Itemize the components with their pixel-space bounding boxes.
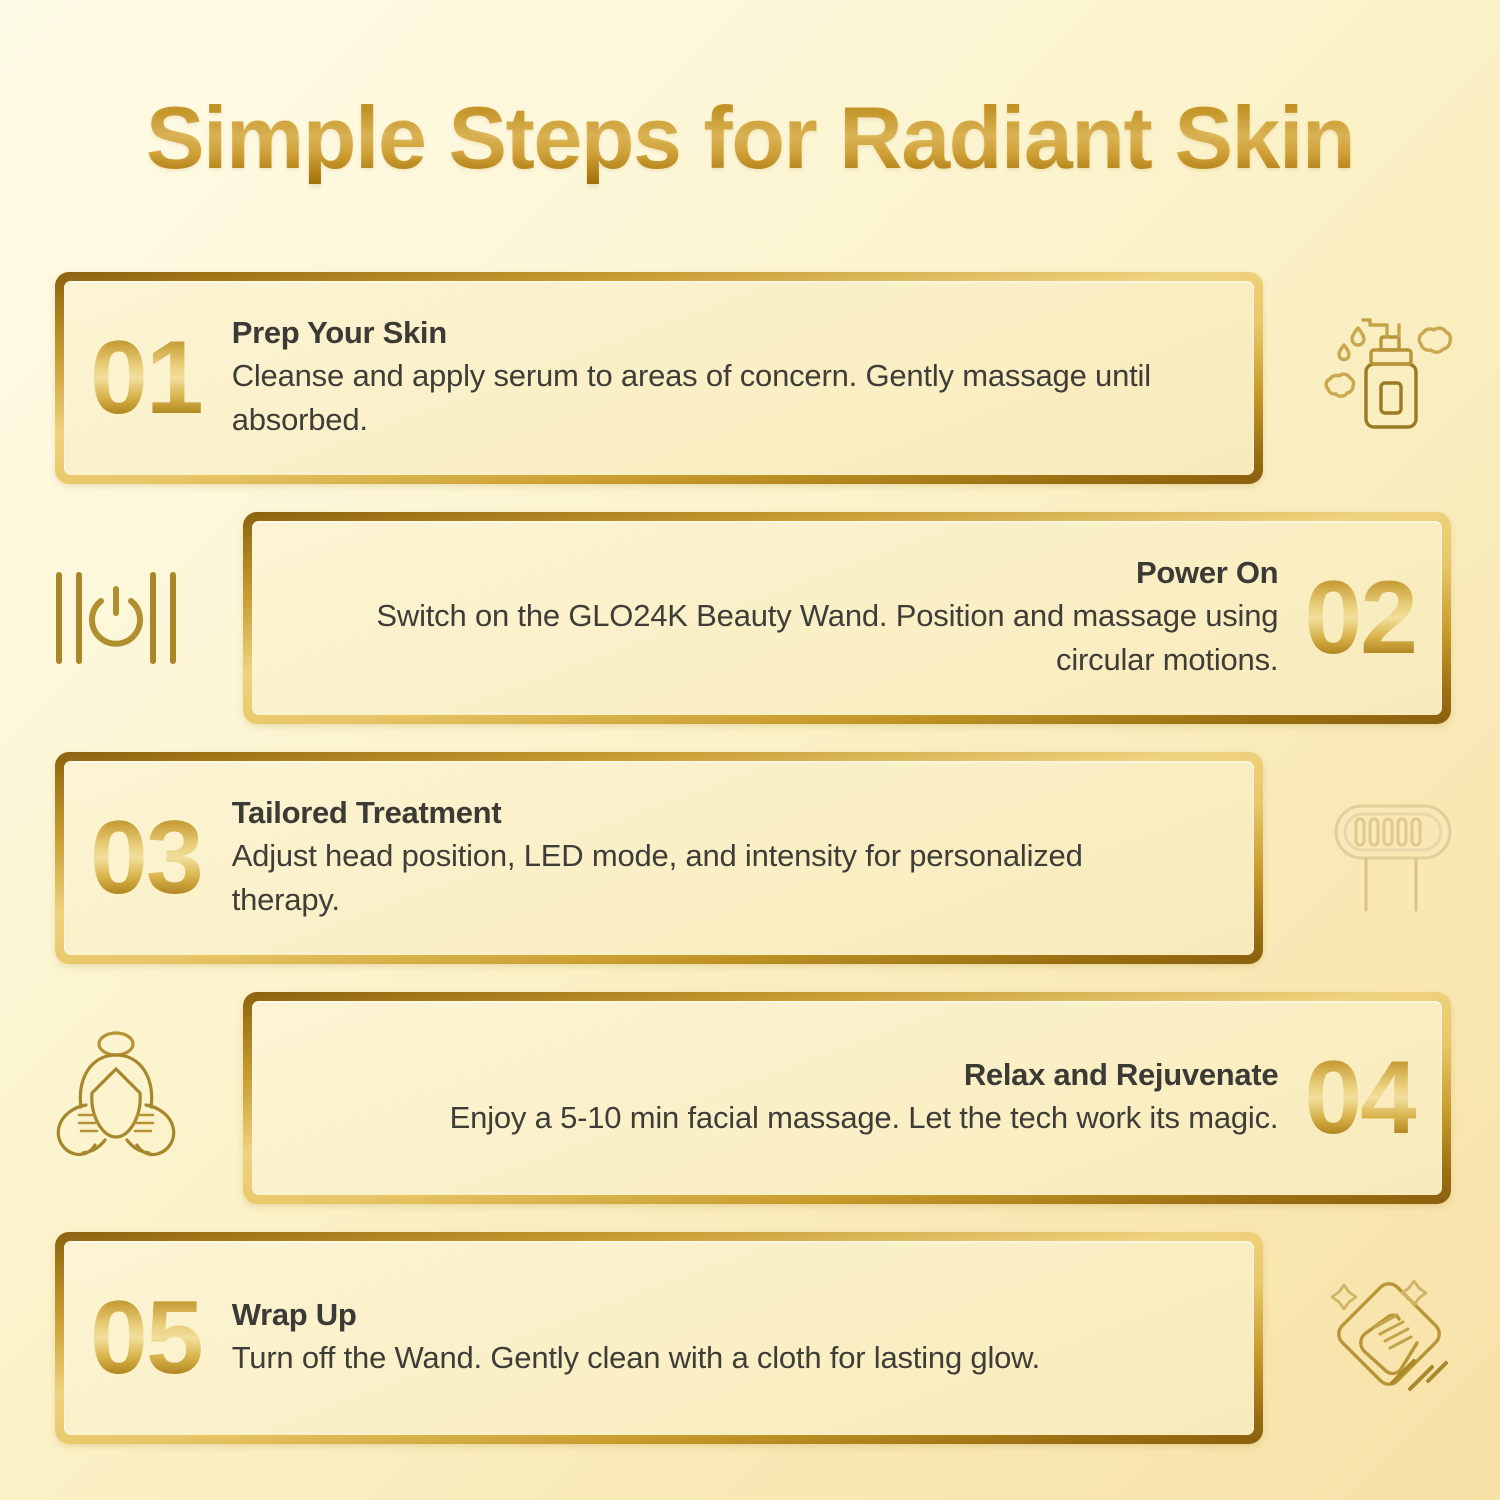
step-card-04[interactable]: 04 Relax and Rejuvenate Enjoy a 5-10 min… [243,992,1451,1204]
step-text-02: Power On Switch on the GLO24K Beauty Wan… [348,554,1278,683]
step-number-03: 03 [90,806,202,910]
step-item-04: 04 Relax and Rejuvenate Enjoy a 5-10 min… [0,992,1500,1204]
pump-bottle-icon [1313,298,1473,458]
step-text-04: Relax and Rejuvenate Enjoy a 5-10 min fa… [450,1056,1279,1141]
step-description-05: Turn off the Wand. Gently clean with a c… [232,1336,1040,1380]
step-title-02: Power On [348,554,1278,593]
step-description-01: Cleanse and apply serum to areas of conc… [232,354,1162,442]
step-description-02: Switch on the GLO24K Beauty Wand. Positi… [348,594,1278,682]
wipe-cloth-icon [1313,1258,1473,1418]
page-title-container: Simple Steps for Radiant Skin [0,92,1500,184]
led-panel-icon [1313,778,1473,938]
step-card-inner-05: 05 Wrap Up Turn off the Wand. Gently cle… [64,1241,1254,1435]
step-title-05: Wrap Up [232,1296,1040,1335]
step-number-01: 01 [90,326,202,430]
step-card-inner-02: 02 Power On Switch on the GLO24K Beauty … [252,521,1442,715]
steps-list: 01 Prep Your Skin Cleanse and apply seru… [0,272,1500,1444]
step-card-02[interactable]: 02 Power On Switch on the GLO24K Beauty … [243,512,1451,724]
facial-massage-icon [36,1018,196,1178]
step-item-02: 02 Power On Switch on the GLO24K Beauty … [0,512,1500,724]
page-title: Simple Steps for Radiant Skin [146,92,1354,184]
step-number-05: 05 [90,1286,202,1390]
step-number-04: 04 [1304,1046,1416,1150]
step-title-03: Tailored Treatment [232,794,1162,833]
step-card-01[interactable]: 01 Prep Your Skin Cleanse and apply seru… [55,272,1263,484]
step-text-05: Wrap Up Turn off the Wand. Gently clean … [232,1296,1040,1381]
step-number-02: 02 [1304,566,1416,670]
step-description-03: Adjust head position, LED mode, and inte… [232,834,1162,922]
step-card-inner-01: 01 Prep Your Skin Cleanse and apply seru… [64,281,1254,475]
step-text-01: Prep Your Skin Cleanse and apply serum t… [232,314,1162,443]
step-item-03: 03 Tailored Treatment Adjust head positi… [0,752,1500,964]
step-item-05: 05 Wrap Up Turn off the Wand. Gently cle… [0,1232,1500,1444]
step-card-03[interactable]: 03 Tailored Treatment Adjust head positi… [55,752,1263,964]
power-button-icon [36,538,196,698]
step-card-05[interactable]: 05 Wrap Up Turn off the Wand. Gently cle… [55,1232,1263,1444]
step-text-03: Tailored Treatment Adjust head position,… [232,794,1162,923]
step-card-inner-03: 03 Tailored Treatment Adjust head positi… [64,761,1254,955]
step-title-04: Relax and Rejuvenate [450,1056,1279,1095]
step-description-04: Enjoy a 5-10 min facial massage. Let the… [450,1096,1279,1140]
step-item-01: 01 Prep Your Skin Cleanse and apply seru… [0,272,1500,484]
step-card-inner-04: 04 Relax and Rejuvenate Enjoy a 5-10 min… [252,1001,1442,1195]
step-title-01: Prep Your Skin [232,314,1162,353]
